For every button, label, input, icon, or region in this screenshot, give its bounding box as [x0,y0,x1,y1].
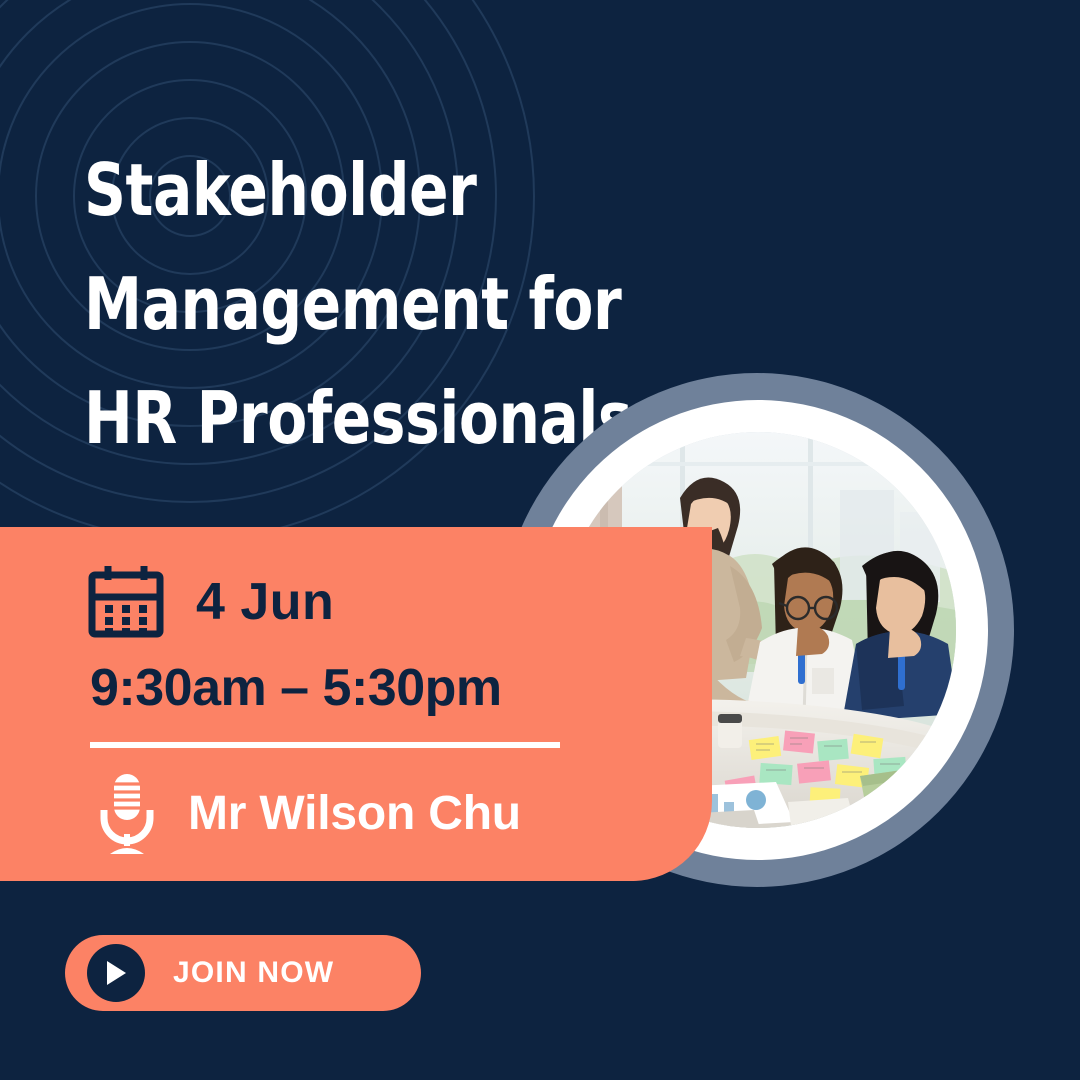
microphone-icon [96,772,158,856]
event-promo-poster: Stakeholder Management for HR Profession… [0,0,1080,1080]
date-row: 4 Jun [88,564,334,640]
section-divider [90,742,560,748]
calendar-icon [88,564,164,640]
event-details-panel: 4 Jun 9:30am – 5:30pm Mr Wilson Chu [0,527,712,881]
event-time: 9:30am – 5:30pm [90,662,502,714]
play-icon[interactable] [87,944,145,1002]
join-now-button[interactable]: JOIN NOW [65,935,421,1011]
speaker-row: Mr Wilson Chu [96,772,521,856]
play-triangle-icon [104,960,128,986]
join-now-label: JOIN NOW [173,958,334,988]
event-date: 4 Jun [196,576,334,628]
speaker-name: Mr Wilson Chu [188,790,521,838]
